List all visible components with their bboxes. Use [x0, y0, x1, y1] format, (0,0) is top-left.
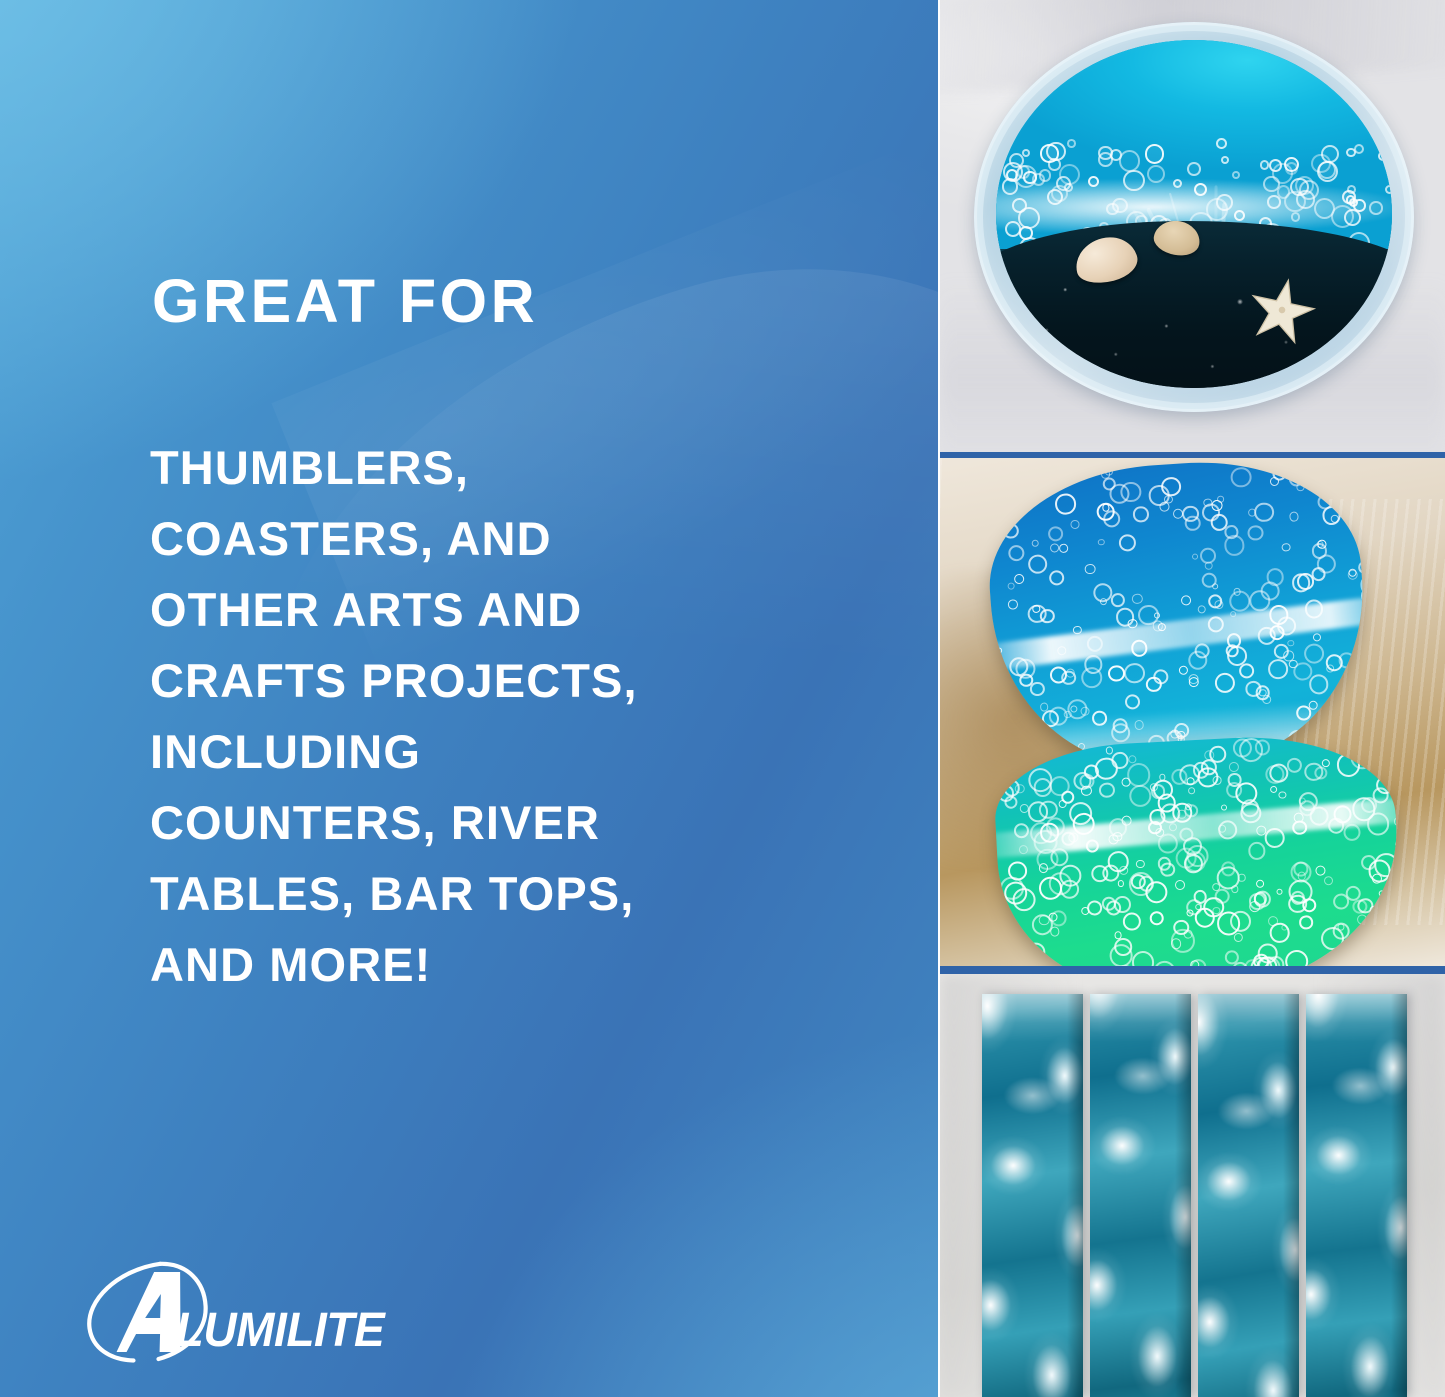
resin-pour-surface [996, 40, 1392, 388]
alumilite-logo: LUMILITE [72, 1252, 412, 1364]
pen-blank [1306, 994, 1407, 1397]
photo-heart-resin-boards [940, 458, 1445, 966]
page-title: GREAT FOR [152, 271, 538, 332]
feature-line: AND MORE! [150, 929, 790, 1000]
feature-line: THUMBLERS, [150, 432, 790, 503]
blue-heart-board [982, 458, 1374, 777]
pen-blank [1090, 994, 1191, 1397]
pen-blank [1198, 994, 1299, 1397]
feature-line: OTHER ARTS AND [150, 574, 790, 645]
foam-cells-blue [982, 458, 1374, 777]
green-heart-board [992, 730, 1405, 966]
feature-list-text: THUMBLERS, COASTERS, AND OTHER ARTS AND … [150, 432, 790, 1000]
photo-marbled-pen-blanks [940, 974, 1445, 1397]
feature-line: TABLES, BAR TOPS, [150, 858, 790, 929]
promo-graphic: GREAT FOR THUMBLERS, COASTERS, AND OTHER… [0, 0, 1445, 1397]
feature-line: COUNTERS, RIVER [150, 787, 790, 858]
photo-resin-petri-dish-coaster [940, 0, 1445, 452]
foam-cells-green [992, 730, 1405, 966]
feature-line: INCLUDING [150, 716, 790, 787]
glass-petri-dish [974, 22, 1414, 412]
starfish [1243, 270, 1321, 348]
feature-line: COASTERS, AND [150, 503, 790, 574]
photo-column [940, 0, 1445, 1397]
pen-blank [982, 994, 1083, 1397]
logo-wordmark: LUMILITE [176, 1302, 387, 1356]
feature-line: CRAFTS PROJECTS, [150, 645, 790, 716]
text-panel: GREAT FOR THUMBLERS, COASTERS, AND OTHER… [0, 0, 938, 1397]
